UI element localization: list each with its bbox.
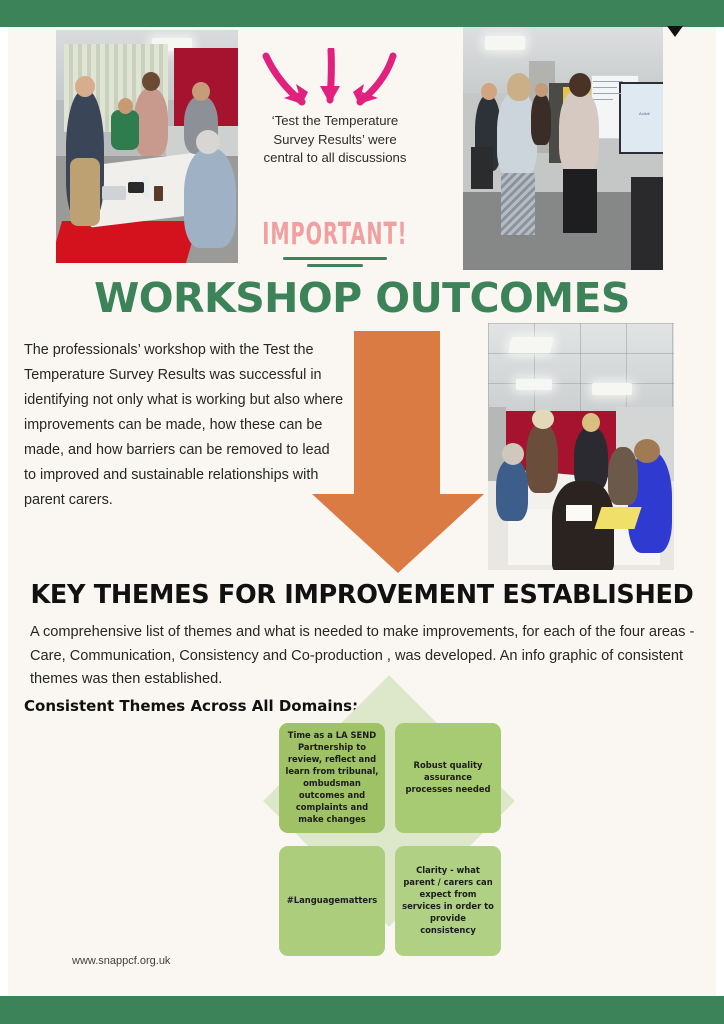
chevron-down-icon [667,26,683,37]
callout-text: ‘Test the Temperature Survey Results’ we… [256,112,414,168]
theme-box-label: Time as a LA SEND Partnership to review,… [285,730,379,825]
workshop-outcomes-paragraph: The professionals’ workshop with the Tes… [24,338,344,512]
theme-box-label: Robust quality assurance processes neede… [401,760,495,796]
photo-workshop-table-discussion [56,30,238,263]
important-stamp: IMPORTANT! [256,222,414,267]
important-underline-long [283,257,387,260]
theme-box-quality-assurance: Robust quality assurance processes neede… [395,723,501,833]
theme-box-label: Clarity - what parent / carers can expec… [401,865,495,937]
important-stamp-label: IMPORTANT! [262,217,407,252]
right-white-margin [716,27,724,996]
important-underline-short [307,264,363,267]
page-title-key-themes: KEY THEMES FOR IMPROVEMENT ESTABLISHED [0,580,724,610]
top-green-band [0,0,724,27]
photo-corridor-discussion: Activit [463,27,663,270]
photo-round-table-session [488,323,674,570]
themes-grid: Time as a LA SEND Partnership to review,… [279,723,501,956]
consistent-themes-subheading: Consistent Themes Across All Domains: [24,697,358,715]
footer-website-url[interactable]: www.snappcf.org.uk [72,955,170,967]
theme-box-partnership: Time as a LA SEND Partnership to review,… [279,723,385,833]
bottom-green-band [0,996,724,1024]
left-white-margin [0,27,8,996]
orange-down-arrow-icon [312,331,484,573]
poster-page: Activit ‘Test the Temperatur [0,0,724,1024]
key-themes-paragraph: A comprehensive list of themes and what … [30,621,696,692]
pink-arrows-icon [258,48,408,118]
theme-box-clarity: Clarity - what parent / carers can expec… [395,846,501,956]
page-title-workshop-outcomes: WORKSHOP OUTCOMES [0,274,724,322]
theme-box-label: #Languagematters [287,895,377,907]
theme-box-language-matters: #Languagematters [279,846,385,956]
